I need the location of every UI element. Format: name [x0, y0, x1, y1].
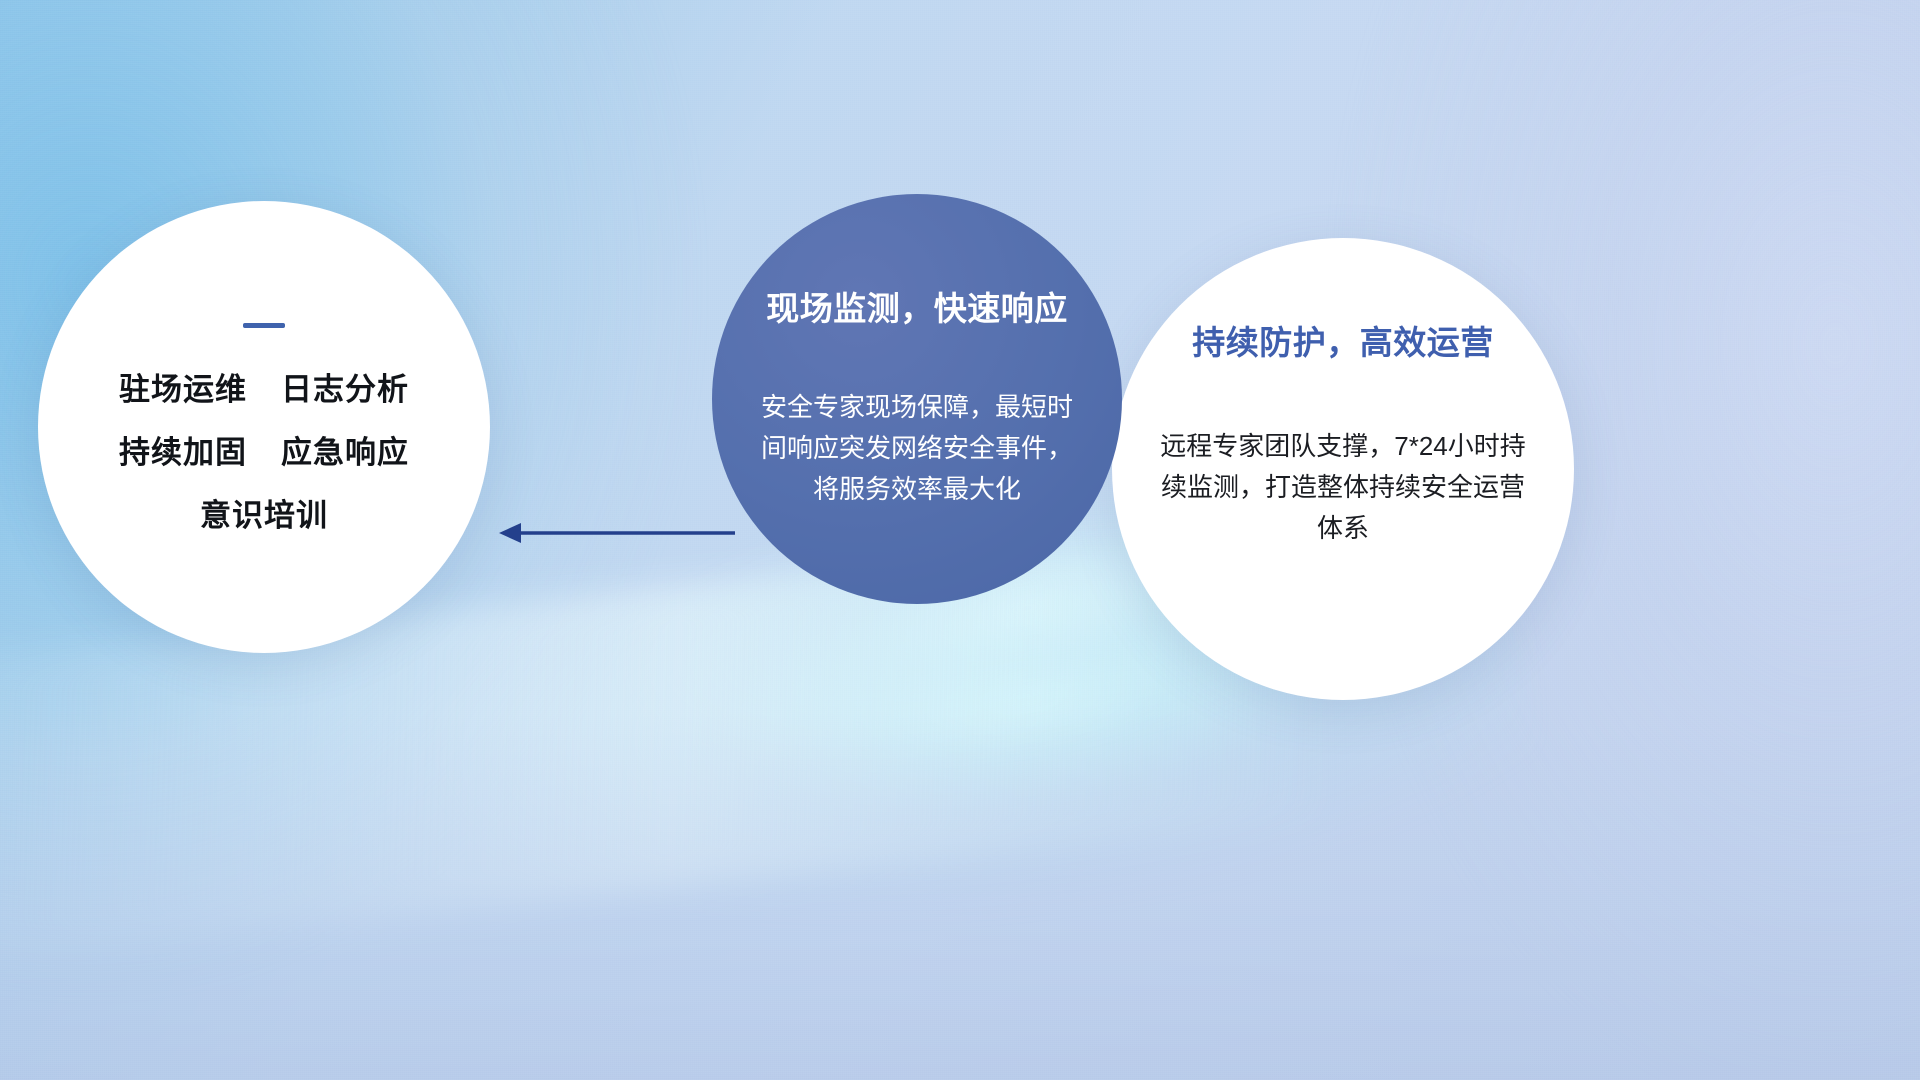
right-circle-title: 持续防护，高效运营 [1192, 316, 1494, 364]
middle-circle-body: 安全专家现场保障，最短时间响应突发网络安全事件，将服务效率最大化 [757, 387, 1077, 510]
keyword-row-1: 驻场运维 日志分析 [119, 374, 409, 405]
right-circle-body: 远程专家团队支撑，7*24小时持续监测，打造整体持续安全运营体系 [1157, 426, 1529, 549]
right-white-circle: 持续防护，高效运营 远程专家团队支撑，7*24小时持续监测，打造整体持续安全运营… [1112, 238, 1574, 700]
keyword-awareness-training: 意识培训 [200, 500, 328, 531]
keyword-onsite-ops: 驻场运维 [119, 374, 247, 405]
middle-blue-circle: 现场监测，快速响应 安全专家现场保障，最短时间响应突发网络安全事件，将服务效率最… [712, 194, 1122, 604]
keyword-row-2: 持续加固 应急响应 [119, 437, 409, 468]
keyword-emergency-response: 应急响应 [281, 437, 409, 468]
keyword-continuous-hardening: 持续加固 [119, 437, 247, 468]
middle-circle-title: 现场监测，快速响应 [766, 282, 1068, 330]
keyword-row-3: 意识培训 [200, 500, 328, 531]
left-arrow-icon [497, 520, 737, 546]
left-keyword-circle: 驻场运维 日志分析 持续加固 应急响应 意识培训 [38, 201, 490, 653]
divider-dash [243, 323, 285, 328]
keyword-log-analysis: 日志分析 [281, 374, 409, 405]
